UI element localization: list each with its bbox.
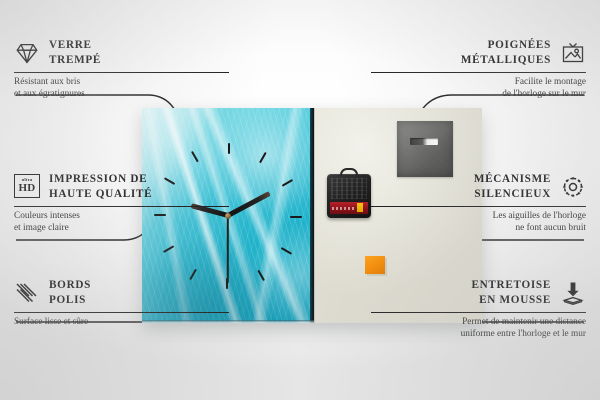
callout-header: MÉCANISME SILENCIEUX xyxy=(371,172,586,202)
desc-line-2: ne font aucun bruit xyxy=(371,222,586,235)
desc-line-1: Les aiguilles de l'horloge xyxy=(371,210,586,223)
diamond-icon xyxy=(14,40,40,66)
callout-description: Facilite le montage de l'horloge sur le … xyxy=(371,76,586,101)
callout-header: POIGNÉES MÉTALLIQUES xyxy=(371,38,586,68)
callout-header: ENTRETOISE EN MOUSSE xyxy=(371,278,586,308)
desc-line-1: Couleurs intenses xyxy=(14,210,229,223)
title-line-1: BORDS xyxy=(49,278,91,293)
clock-mechanism xyxy=(327,174,371,218)
mechanism-hook xyxy=(340,168,358,176)
desc-line-2: et aux égratignures xyxy=(14,88,229,101)
callout-description: Les aiguilles de l'horloge ne font aucun… xyxy=(371,210,586,235)
gear-icon xyxy=(560,174,586,200)
desc-line-1: Permet de maintenir une distance xyxy=(371,316,586,329)
callout-description: Surface lisse et sûre xyxy=(14,316,229,329)
divider xyxy=(14,312,229,313)
desc-line-1: Résistant aux bris xyxy=(14,76,229,89)
title-line-1: ENTRETOISE xyxy=(471,278,551,293)
callout-bords-polis: BORDS POLIS Surface lisse et sûre xyxy=(14,278,229,328)
callout-title: ENTRETOISE EN MOUSSE xyxy=(471,278,551,308)
title-line-2: MÉTALLIQUES xyxy=(461,53,551,68)
callout-description: Permet de maintenir une distance uniform… xyxy=(371,316,586,341)
title-line-2: TREMPÉ xyxy=(49,53,101,68)
callout-title: VERRE TREMPÉ xyxy=(49,38,101,68)
callout-title: POIGNÉES MÉTALLIQUES xyxy=(461,38,551,68)
callout-entretoise-en-mousse: ENTRETOISE EN MOUSSE Permet de maintenir… xyxy=(371,278,586,341)
picture-frame-hanger-icon xyxy=(560,40,586,66)
polished-edge-lines-icon xyxy=(14,280,40,306)
battery-label xyxy=(330,202,368,214)
hanger-slot xyxy=(410,138,438,145)
foam-spacer xyxy=(365,256,385,274)
divider xyxy=(371,312,586,313)
callout-header: VERRE TREMPÉ xyxy=(14,38,229,68)
infographic-canvas: VERRE TREMPÉ Résistant aux bris et aux é… xyxy=(0,0,600,400)
callout-description: Couleurs intenses et image claire xyxy=(14,210,229,235)
callout-description: Résistant aux bris et aux égratignures xyxy=(14,76,229,101)
callout-header: BORDS POLIS xyxy=(14,278,229,308)
ultra-hd-icon: ultra HD xyxy=(14,174,40,200)
divider xyxy=(371,72,586,73)
callout-mecanisme-silencieux: MÉCANISME SILENCIEUX Les aiguilles de l'… xyxy=(371,172,586,235)
callout-title: IMPRESSION DE HAUTE QUALITÉ xyxy=(49,172,152,202)
title-line-1: IMPRESSION DE xyxy=(49,172,152,187)
callout-title: MÉCANISME SILENCIEUX xyxy=(474,172,551,202)
metal-hanger-plate xyxy=(397,121,453,177)
mechanism-vents xyxy=(331,178,367,199)
title-line-2: SILENCIEUX xyxy=(474,187,551,202)
title-line-1: VERRE xyxy=(49,38,101,53)
desc-line-2: et image claire xyxy=(14,222,229,235)
title-line-2: EN MOUSSE xyxy=(471,293,551,308)
divider xyxy=(14,206,229,207)
title-line-1: POIGNÉES xyxy=(461,38,551,53)
hd-text: HD xyxy=(18,183,35,194)
title-line-1: MÉCANISME xyxy=(474,172,551,187)
divider xyxy=(371,206,586,207)
callout-title: BORDS POLIS xyxy=(49,278,91,308)
title-line-2: POLIS xyxy=(49,293,91,308)
callout-impression-haute-qualite: ultra HD IMPRESSION DE HAUTE QUALITÉ Cou… xyxy=(14,172,229,235)
divider xyxy=(14,72,229,73)
callout-poignees-metalliques: POIGNÉES MÉTALLIQUES Facilite le montage… xyxy=(371,38,586,101)
desc-line-2: uniforme entre l'horloge et le mur xyxy=(371,328,586,341)
callout-verre-trempe: VERRE TREMPÉ Résistant aux bris et aux é… xyxy=(14,38,229,101)
desc-line-2: de l'horloge sur le mur xyxy=(371,88,586,101)
desc-line-1: Surface lisse et sûre xyxy=(14,316,229,329)
arrow-down-onto-layer-icon xyxy=(560,280,586,306)
callout-header: ultra HD IMPRESSION DE HAUTE QUALITÉ xyxy=(14,172,229,202)
desc-line-1: Facilite le montage xyxy=(371,76,586,89)
title-line-2: HAUTE QUALITÉ xyxy=(49,187,152,202)
